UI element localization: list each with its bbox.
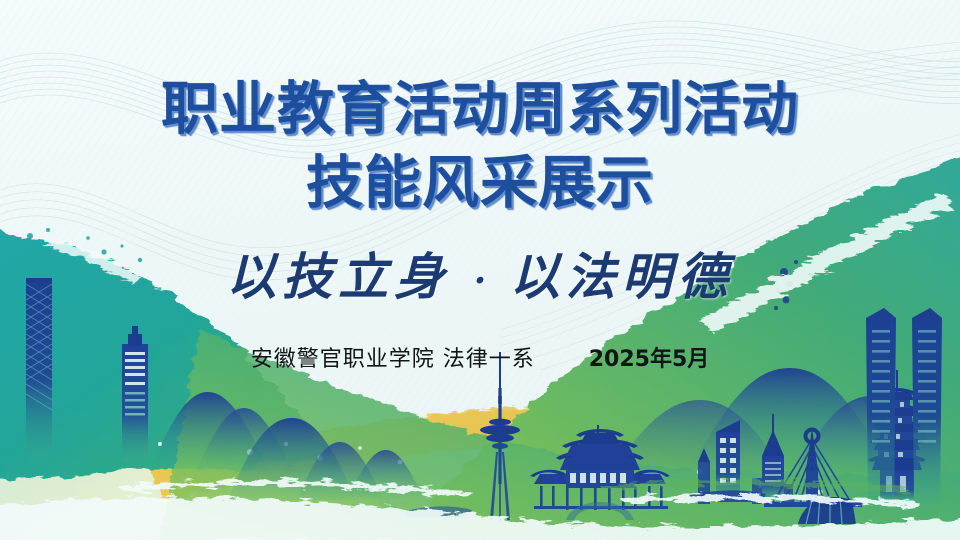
poster-canvas: 职业教育活动周系列活动 技能风采展示 以技立身 · 以法明德 安徽警官职业学院 … [0,0,960,540]
foreground-brush-overlay [0,0,960,540]
